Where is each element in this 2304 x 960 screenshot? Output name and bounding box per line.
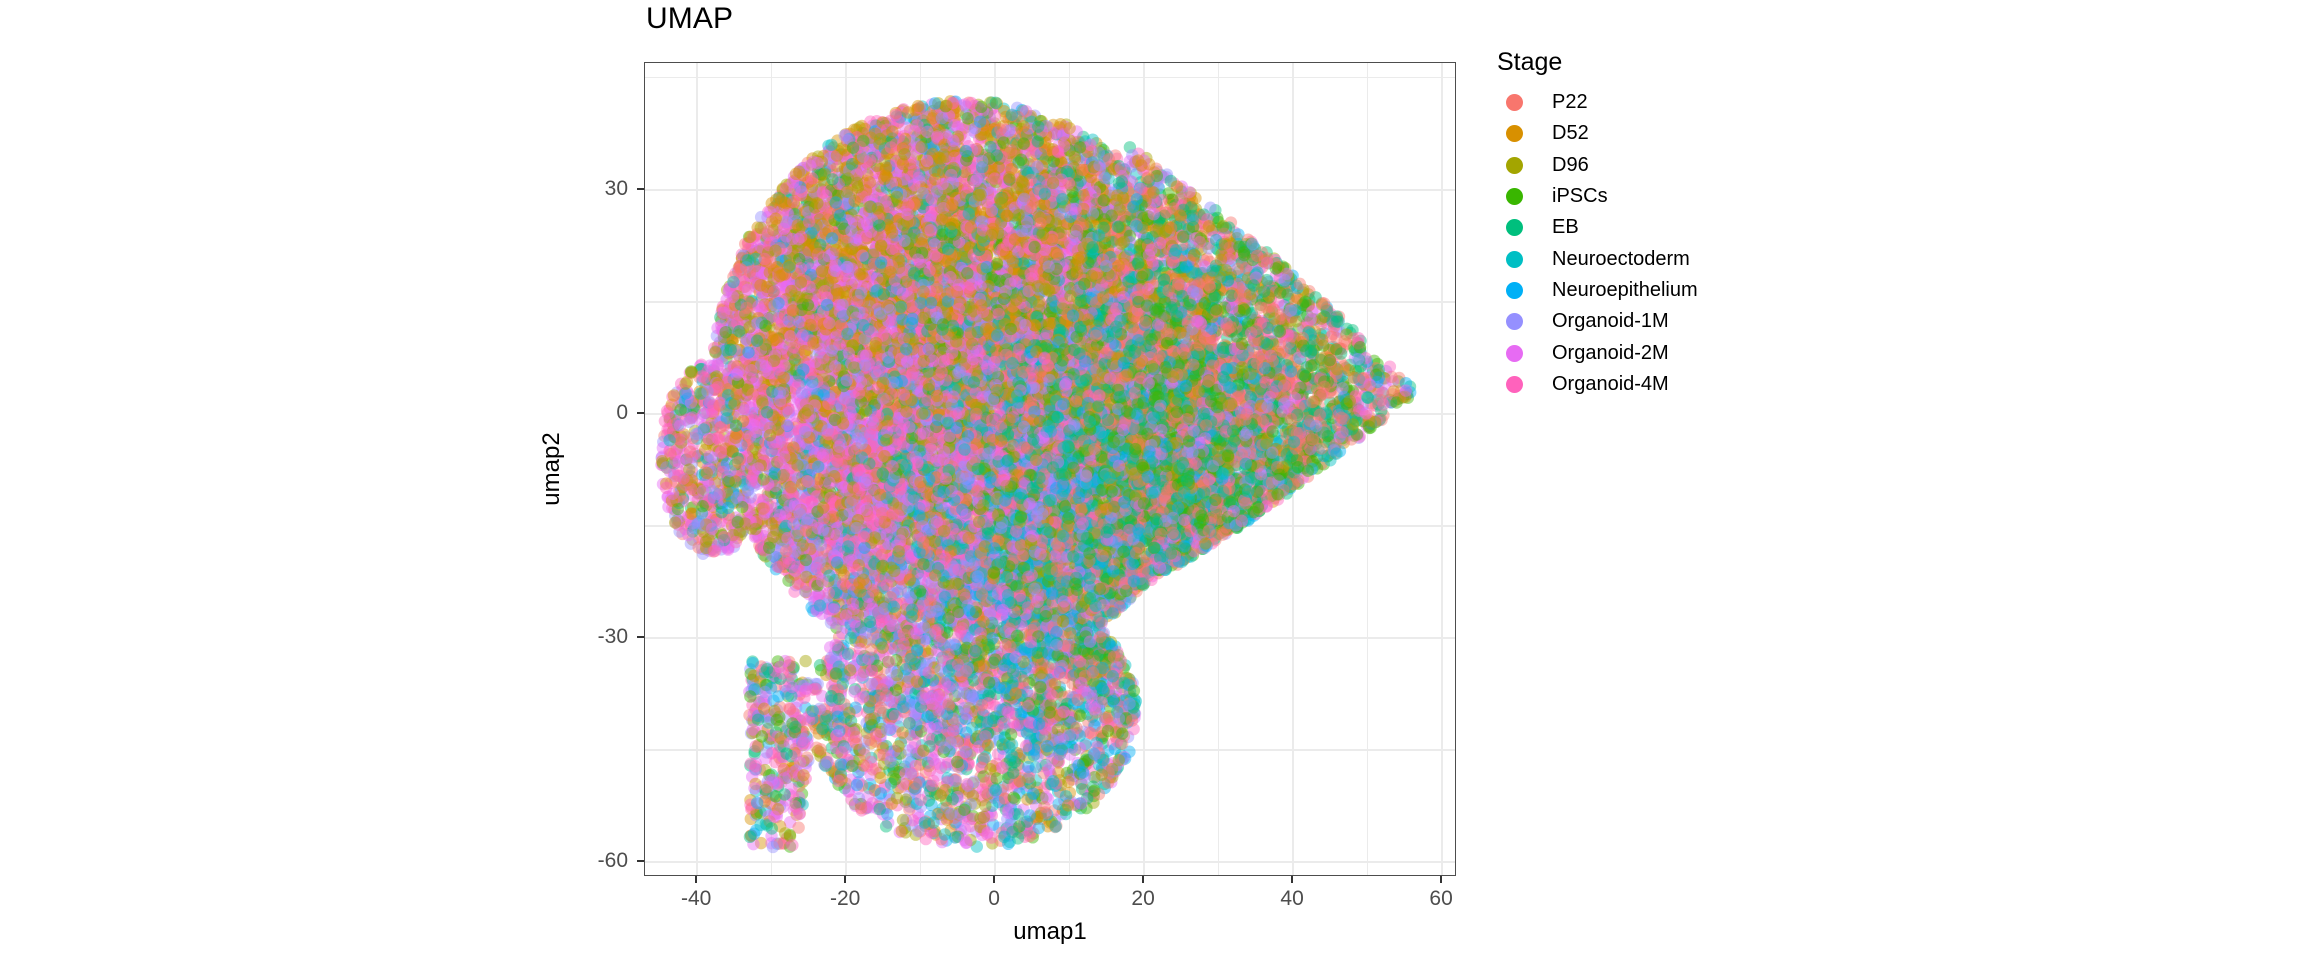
legend-item-label: Neuroepithelium	[1552, 279, 1698, 302]
y-tick-mark	[637, 860, 644, 861]
legend-item-label: P22	[1552, 91, 1588, 114]
legend-item-label: D52	[1552, 122, 1589, 145]
x-tick-label: 0	[988, 887, 1000, 911]
legend-title: Stage	[1497, 48, 1877, 77]
legend-item[interactable]: EB	[1497, 212, 1877, 243]
y-tick-mark	[637, 188, 644, 189]
legend-dot-icon	[1506, 282, 1523, 299]
legend-item[interactable]: P22	[1497, 87, 1877, 118]
x-tick-label: 20	[1131, 887, 1154, 911]
legend-dot-icon	[1506, 251, 1523, 268]
legend-dot-icon	[1506, 345, 1523, 362]
legend-key-swatch	[1497, 219, 1531, 236]
legend-key-swatch	[1497, 157, 1531, 174]
legend-key-swatch	[1497, 188, 1531, 205]
page-title: UMAP	[646, 2, 733, 36]
legend-item-label: D96	[1552, 154, 1589, 177]
legend-dot-icon	[1506, 313, 1523, 330]
y-tick-label: -60	[534, 849, 628, 873]
x-tick-label: -40	[681, 887, 711, 911]
legend-item[interactable]: D52	[1497, 118, 1877, 149]
scatter-points-layer	[645, 63, 1455, 875]
legend-item[interactable]: iPSCs	[1497, 181, 1877, 212]
legend-item-label: Organoid-2M	[1552, 342, 1669, 365]
legend-key-swatch	[1497, 94, 1531, 111]
umap-figure: UMAP -40-200204060 300-30-60 umap1 umap2…	[0, 0, 2304, 960]
x-tick-label: 40	[1280, 887, 1303, 911]
x-tick-mark	[993, 876, 994, 883]
x-tick-mark	[695, 876, 696, 883]
y-tick-label: 30	[534, 177, 628, 201]
legend-dot-icon	[1506, 219, 1523, 236]
legend-dot-icon	[1506, 188, 1523, 205]
legend-item-label: Organoid-4M	[1552, 373, 1669, 396]
legend-dot-icon	[1506, 376, 1523, 393]
y-tick-mark	[637, 636, 644, 637]
x-axis-label: umap1	[644, 918, 1456, 946]
plot-panel	[644, 62, 1456, 876]
x-tick-mark	[1440, 876, 1441, 883]
x-tick-label: -20	[830, 887, 860, 911]
legend-item[interactable]: Organoid-4M	[1497, 369, 1877, 400]
legend-key-swatch	[1497, 345, 1531, 362]
legend-key-swatch	[1497, 313, 1531, 330]
legend-items: P22D52D96iPSCsEBNeuroectodermNeuroepithe…	[1497, 87, 1877, 400]
x-tick-mark	[1142, 876, 1143, 883]
legend-item[interactable]: Organoid-1M	[1497, 306, 1877, 337]
legend-item[interactable]: Neuroectoderm	[1497, 243, 1877, 274]
legend-dot-icon	[1506, 94, 1523, 111]
legend-dot-icon	[1506, 157, 1523, 174]
legend: Stage P22D52D96iPSCsEBNeuroectodermNeuro…	[1497, 48, 1877, 400]
y-axis-label: umap2	[538, 432, 566, 505]
legend-item[interactable]: Neuroepithelium	[1497, 275, 1877, 306]
x-tick-label: 60	[1429, 887, 1452, 911]
x-tick-mark	[1291, 876, 1292, 883]
legend-dot-icon	[1506, 125, 1523, 142]
y-tick-mark	[637, 412, 644, 413]
legend-key-swatch	[1497, 376, 1531, 393]
legend-key-swatch	[1497, 282, 1531, 299]
legend-item[interactable]: D96	[1497, 150, 1877, 181]
legend-item-label: Organoid-1M	[1552, 310, 1669, 333]
y-tick-label: 0	[534, 401, 628, 425]
scatter-canvas	[645, 63, 1456, 876]
legend-key-swatch	[1497, 125, 1531, 142]
legend-item-label: EB	[1552, 216, 1579, 239]
legend-key-swatch	[1497, 251, 1531, 268]
y-tick-label: -30	[534, 625, 628, 649]
legend-item-label: Neuroectoderm	[1552, 248, 1690, 271]
x-tick-mark	[844, 876, 845, 883]
legend-item[interactable]: Organoid-2M	[1497, 337, 1877, 368]
legend-item-label: iPSCs	[1552, 185, 1608, 208]
